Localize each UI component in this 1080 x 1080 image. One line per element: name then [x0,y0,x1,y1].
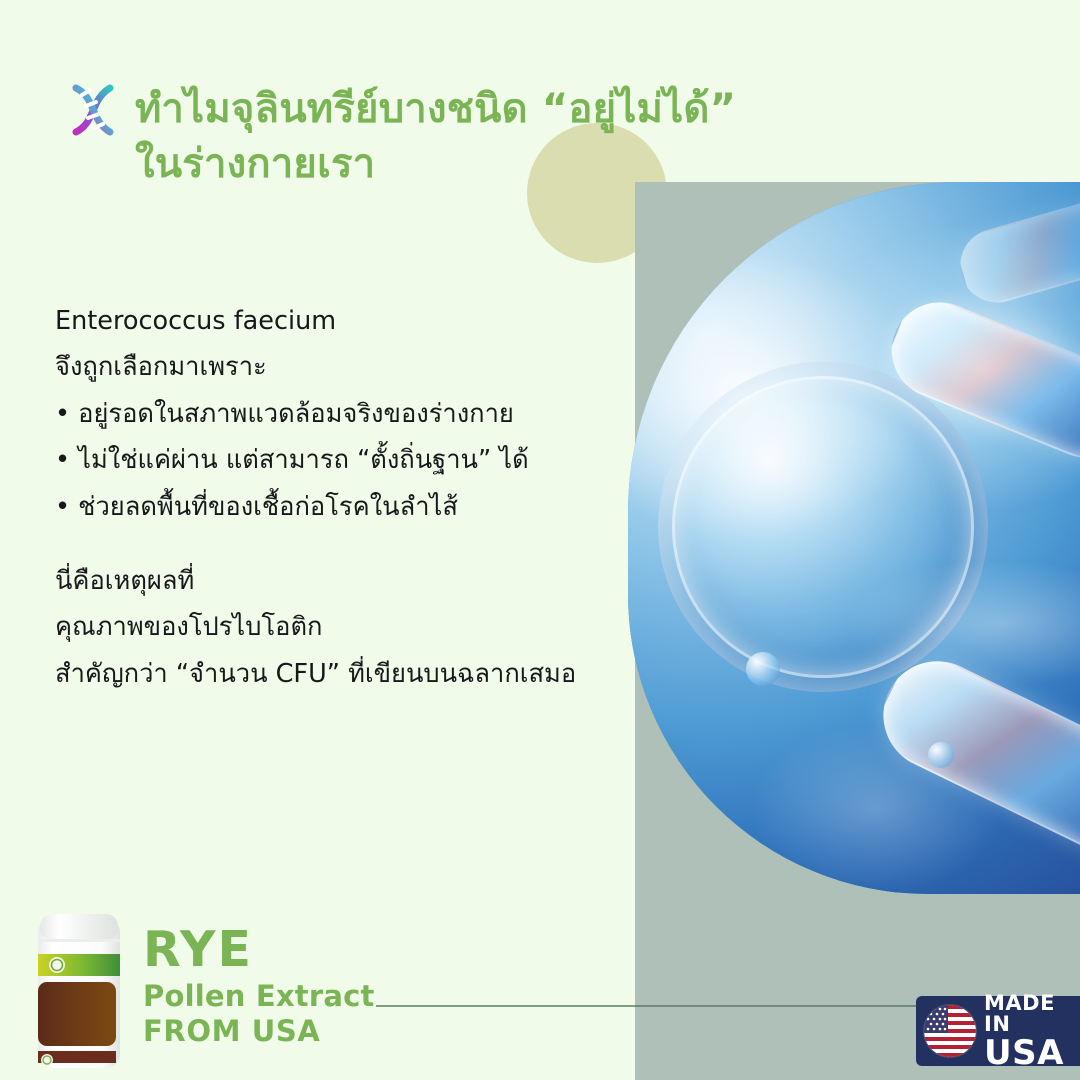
closing-line-1: นี่คือเหตุผลที่ [55,558,615,604]
body-copy-block: Enterococcus faecium จึงถูกเลือกมาเพราะ … [55,298,615,697]
page-title: ทำไมจุลินทรีย์บางชนิด “อยู่ไม่ได้” ในร่า… [135,82,835,192]
made-in-usa-badge: MADE IN USA [916,996,1080,1066]
closing-line-2: คุณภาพของโปรไบโอติก [55,604,615,650]
badge-text: MADE IN USA [984,993,1080,1070]
brand-name: RYE [143,925,375,975]
closing-line-3: สำคัญกว่า “จำนวน CFU” ที่เขียนบนฉลากเสมอ [55,651,615,697]
badge-line-2: USA [984,1036,1080,1070]
brand-subtitle: Pollen Extract [143,979,375,1014]
photo-swirl-highlights [628,182,1080,894]
copy-spacer [55,530,615,558]
dna-helix-icon [62,78,124,140]
badge-line-1: MADE IN [984,993,1080,1035]
title-line-1: ทำไมจุลินทรีย์บางชนิด “อยู่ไม่ได้” [135,82,835,137]
benefit-bullet-2: • ไม่ใช่แค่ผ่าน แต่สามารถ “ตั้งถิ่นฐาน” … [55,437,615,483]
probiotic-photo-panel [628,182,1080,894]
supplement-bottle-icon [30,908,128,1073]
brand-origin: FROM USA [143,1014,375,1048]
benefit-bullet-3: • ช่วยลดพื้นที่ของเชื้อก่อโรคในลำไส้ [55,484,615,530]
brand-lockup: RYE Pollen Extract FROM USA [143,925,375,1049]
poster-canvas: ทำไมจุลินทรีย์บางชนิด “อยู่ไม่ได้” ในร่า… [0,0,1080,1080]
intro-line-2: จึงถูกเลือกมาเพราะ [55,344,615,390]
intro-line-1: Enterococcus faecium [55,298,615,344]
title-line-2: ในร่างกายเรา [135,137,835,192]
usa-flag-icon [924,1005,976,1057]
benefit-bullet-1: • อยู่รอดในสภาพแวดล้อมจริงของร่างกาย [55,391,615,437]
